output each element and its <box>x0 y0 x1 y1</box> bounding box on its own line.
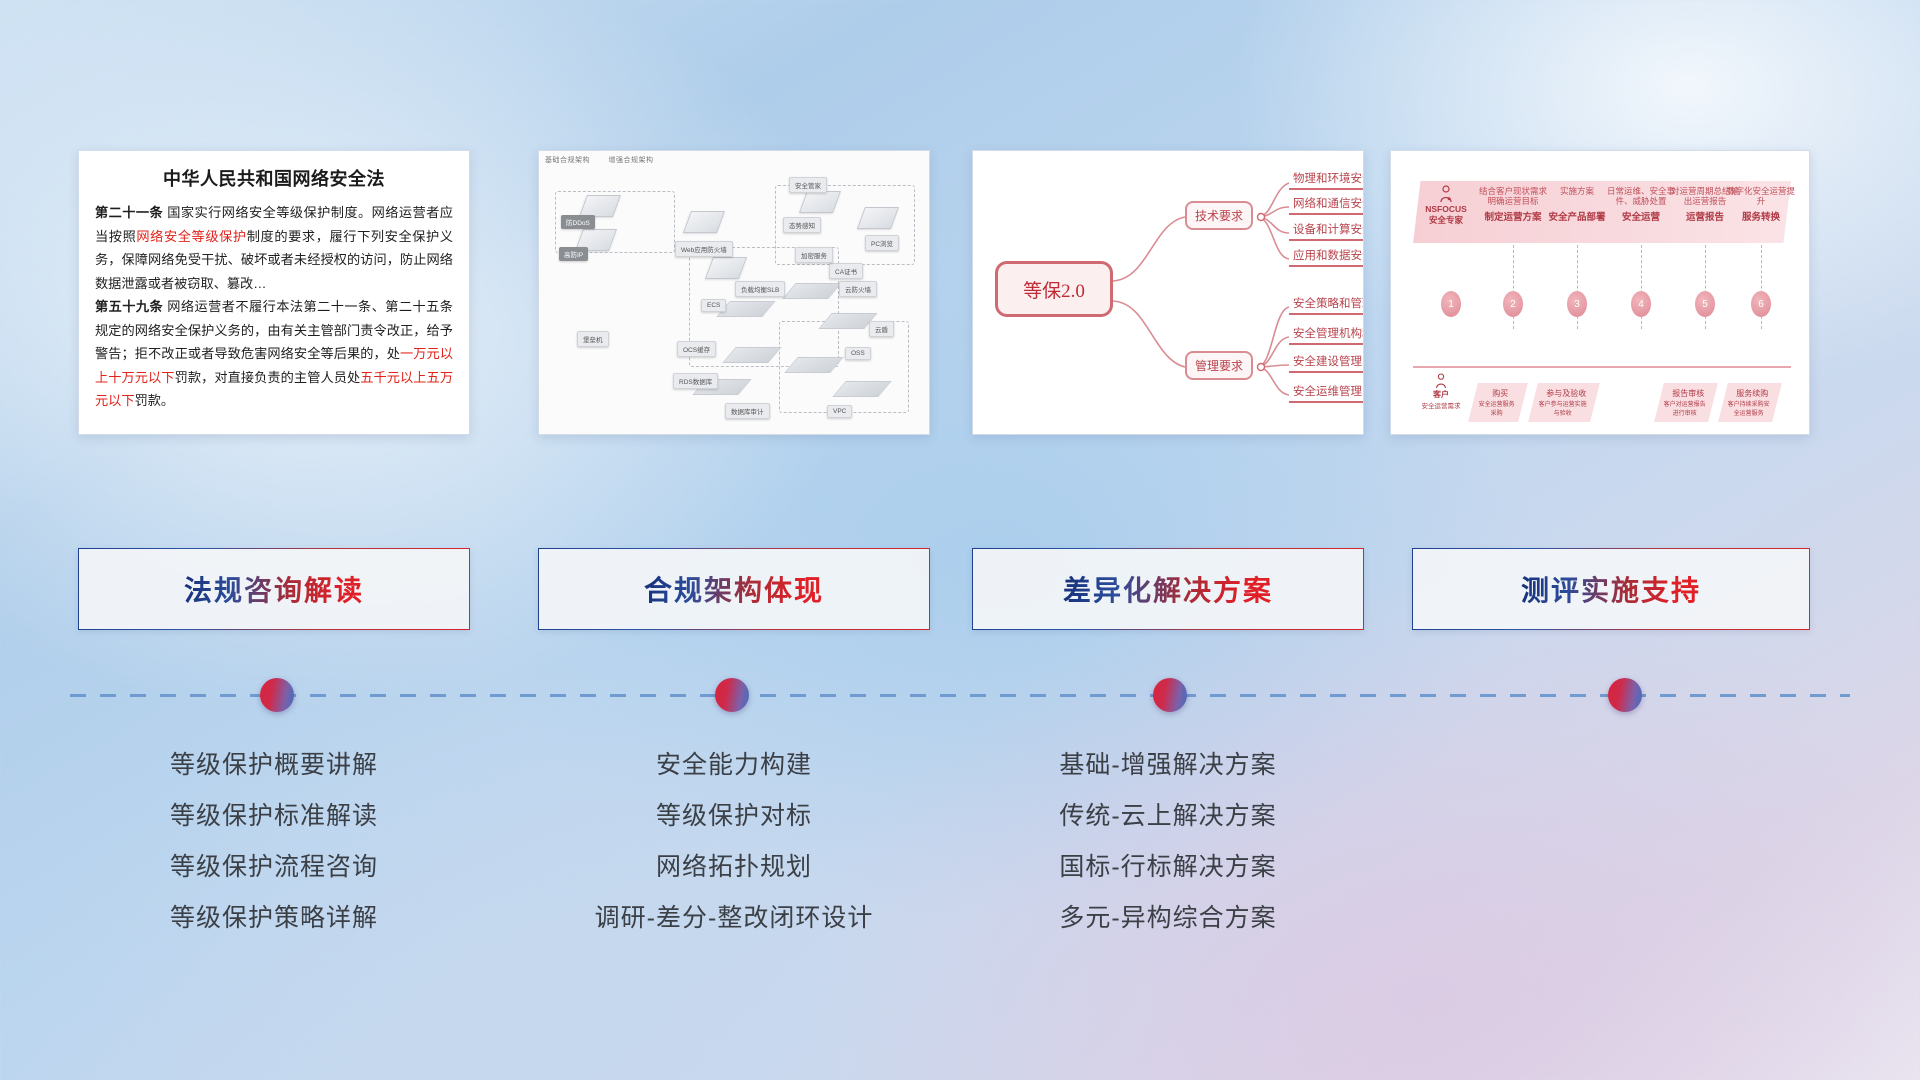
architecture-node-label: 态势感知 <box>783 217 821 233</box>
nsfocus-step-desc: 结合客户现状需求明确运营目标 <box>1477 187 1549 207</box>
law-article-59-text-b: 罚款，对直接负责的主管人员处 <box>175 370 361 385</box>
nsfocus-customer-action: 报告审核 客户对运营报告进行审核 <box>1654 383 1718 422</box>
customer-icon <box>1434 373 1448 389</box>
nsfocus-step-marker: 2 <box>1503 291 1523 317</box>
nsfocus-step-marker: 3 <box>1567 291 1587 317</box>
nsfocus-diagram: NSFOCUS 安全专家 结合客户现状需求明确运营目标 制定运营方案 实施方案 … <box>1391 151 1809 434</box>
architecture-node-label: 云防火墙 <box>839 281 877 297</box>
timeline-dot-4[interactable] <box>1608 678 1642 712</box>
architecture-node-label: 防DDoS <box>561 215 595 229</box>
nsfocus-customer-action-desc: 客户对运营报告进行审核 <box>1664 399 1706 417</box>
list-item: 等级保护标准解读 <box>78 791 470 842</box>
architecture-node-label: 堡垒机 <box>577 331 609 347</box>
detail-list-compliance-architecture: 安全能力构建 等级保护对标 网络拓扑规划 调研-差分-整改闭环设计 <box>538 740 930 944</box>
list-item: 多元-异构综合方案 <box>972 893 1364 944</box>
nsfocus-customer-label: 客户 <box>1433 390 1449 399</box>
mindmap-leaf: 物理和环境安全 <box>1289 169 1364 190</box>
nsfocus-customer-action-title: 服务续购 <box>1731 388 1773 399</box>
architecture-node-label: RDS数据库 <box>673 373 718 389</box>
mindmap-leaf: 安全运维管理 <box>1289 382 1364 403</box>
law-text-block: 中华人民共和国网络安全法 第二十一条 国家实行网络安全等级保护制度。网络运营者应… <box>79 151 469 423</box>
architecture-header-left: 基础合规架构 <box>545 157 590 164</box>
mindmap-leaf: 安全建设管理 <box>1289 352 1364 373</box>
law-article-59: 第五十九条 网络运营者不履行本法第二十一条、第二十五条规定的网络安全保护义务的，… <box>95 295 453 413</box>
headline-box-evaluation-support[interactable]: 测评实施支持 <box>1412 548 1810 630</box>
headline-label: 法规咨询解读 <box>184 569 364 609</box>
nsfocus-logo-line2: 安全专家 <box>1429 215 1463 225</box>
timeline-dot-2[interactable] <box>715 678 749 712</box>
mindmap-leaf: 设备和计算安全 <box>1289 220 1364 241</box>
mindmap: 等保2.0 技术要求 管理要求 物理和环境安全 网络和通信安全 设备和计算安全 … <box>973 151 1363 434</box>
nsfocus-customer-action-desc: 安全运营服务采购 <box>1478 399 1516 417</box>
list-item: 传统-云上解决方案 <box>972 791 1364 842</box>
architecture-node-label: VPC <box>827 405 852 418</box>
nsfocus-axis <box>1413 366 1791 368</box>
list-item: 调研-差分-整改闭环设计 <box>538 893 930 944</box>
architecture-node-label: 加密服务 <box>795 247 833 263</box>
nsfocus-customer-action-title: 报告审核 <box>1667 388 1709 399</box>
headline-label: 合规架构体现 <box>644 569 824 609</box>
cards-row: 中华人民共和国网络安全法 第二十一条 国家实行网络安全等级保护制度。网络运营者应… <box>0 150 1920 440</box>
nsfocus-step-marker: 4 <box>1631 291 1651 317</box>
nsfocus-step-marker: 5 <box>1695 291 1715 317</box>
list-item: 基础-增强解决方案 <box>972 740 1364 791</box>
nsfocus-customer-action-title: 参与及验收 <box>1541 388 1591 399</box>
law-title: 中华人民共和国网络安全法 <box>95 165 453 191</box>
architecture-node-label: 高防IP <box>559 247 588 261</box>
card-nsfocus-timeline[interactable]: NSFOCUS 安全专家 结合客户现状需求明确运营目标 制定运营方案 实施方案 … <box>1390 150 1810 435</box>
mindmap-branch-technical: 技术要求 <box>1185 201 1253 230</box>
timeline-dashed-line <box>70 694 1850 697</box>
nsfocus-customer-action-desc: 客户参与运营实施与验收 <box>1538 399 1588 417</box>
timeline-dot-1[interactable] <box>260 678 294 712</box>
mindmap-leaf: 应用和数据安全 <box>1289 246 1364 267</box>
headline-label: 差异化解决方案 <box>1063 569 1273 609</box>
headline-box-differentiated-solution[interactable]: 差异化解决方案 <box>972 548 1364 630</box>
architecture-header: 基础合规架构 增强合规架构 <box>545 155 669 165</box>
architecture-diagram: 基础合规架构 增强合规架构 防DDoS 高防IP 安全管家 态势感知 <box>539 151 929 434</box>
mindmap-leaf: 网络和通信安全 <box>1289 194 1364 215</box>
timeline <box>70 694 1850 698</box>
headline-box-compliance-architecture[interactable]: 合规架构体现 <box>538 548 930 630</box>
architecture-header-right: 增强合规架构 <box>608 157 653 164</box>
law-article-59-label: 第五十九条 <box>95 299 163 314</box>
headline-row: 法规咨询解读 合规架构体现 差异化解决方案 测评实施支持 <box>0 548 1920 630</box>
detail-list-differentiated-solution: 基础-增强解决方案 传统-云上解决方案 国标-行标解决方案 多元-异构综合方案 <box>972 740 1364 944</box>
list-item: 安全能力构建 <box>538 740 930 791</box>
architecture-node-label: OSS <box>845 347 871 360</box>
nsfocus-step-marker: 1 <box>1441 291 1461 317</box>
law-article-21-label: 第二十一条 <box>95 205 163 220</box>
nsfocus-customer-action-title: 购买 <box>1481 388 1519 399</box>
list-item: 等级保护策略详解 <box>78 893 470 944</box>
architecture-node-label: 负载均衡SLB <box>735 281 785 297</box>
list-item: 国标-行标解决方案 <box>972 842 1364 893</box>
nsfocus-customer-desc: 安全运营需求 <box>1422 403 1461 410</box>
architecture-node-label: 安全管家 <box>789 177 827 193</box>
card-mindmap-dengbao[interactable]: 等保2.0 技术要求 管理要求 物理和环境安全 网络和通信安全 设备和计算安全 … <box>972 150 1364 435</box>
nsfocus-step-desc: 日常运维、安全事件、威胁处置 <box>1605 187 1677 207</box>
headline-box-regulation-consulting[interactable]: 法规咨询解读 <box>78 548 470 630</box>
architecture-node-shape <box>683 211 725 233</box>
nsfocus-customer: 客户 安全运营需求 <box>1413 373 1469 410</box>
architecture-node-label: 云盾 <box>869 321 894 337</box>
law-article-59-text-c: 罚款。 <box>135 393 175 408</box>
list-item: 网络拓扑规划 <box>538 842 930 893</box>
nsfocus-step-title: 服务转换 <box>1725 209 1797 223</box>
mindmap-branch-management: 管理要求 <box>1185 351 1253 380</box>
nsfocus-logo-line1: NSFOCUS <box>1425 204 1467 214</box>
nsfocus-step-title: 制定运营方案 <box>1477 209 1549 223</box>
architecture-node-label: CA证书 <box>829 263 863 279</box>
security-expert-icon <box>1438 185 1454 203</box>
law-article-21-highlight: 网络安全等级保护 <box>136 229 246 244</box>
nsfocus-step-marker: 6 <box>1751 291 1771 317</box>
architecture-node-label: PC浏览 <box>865 235 899 251</box>
architecture-node-label: 数据库审计 <box>725 403 770 419</box>
card-cloud-architecture[interactable]: 基础合规架构 增强合规架构 防DDoS 高防IP 安全管家 态势感知 <box>538 150 930 435</box>
detail-list-regulation-consulting: 等级保护概要讲解 等级保护标准解读 等级保护流程咨询 等级保护策略详解 <box>78 740 470 944</box>
nsfocus-customer-action: 服务续购 客户持续采购安全运营服务 <box>1718 383 1782 422</box>
mindmap-root-node: 等保2.0 <box>995 261 1113 317</box>
nsfocus-step-title: 安全运营 <box>1605 209 1677 223</box>
list-item: 等级保护对标 <box>538 791 930 842</box>
architecture-node-label: OCS缓存 <box>677 341 716 357</box>
nsfocus-step-desc: 数字化安全运营提升 <box>1725 187 1797 207</box>
headline-label: 测评实施支持 <box>1521 569 1701 609</box>
card-cybersecurity-law[interactable]: 中华人民共和国网络安全法 第二十一条 国家实行网络安全等级保护制度。网络运营者应… <box>78 150 470 435</box>
law-article-21: 第二十一条 国家实行网络安全等级保护制度。网络运营者应当按照网络安全等级保护制度… <box>95 201 453 295</box>
nsfocus-customer-action: 购买 安全运营服务采购 <box>1468 383 1528 422</box>
nsfocus-step-desc: 实施方案 <box>1541 187 1613 197</box>
mindmap-leaf: 安全管理机构和人员 <box>1289 324 1364 345</box>
nsfocus-customer-action: 参与及验收 客户参与运营实施与验收 <box>1528 383 1600 422</box>
list-item: 等级保护流程咨询 <box>78 842 470 893</box>
timeline-dot-3[interactable] <box>1153 678 1187 712</box>
mindmap-leaf: 安全策略和管理制度 <box>1289 294 1364 315</box>
nsfocus-step-title: 安全产品部署 <box>1541 209 1613 223</box>
architecture-node-label: ECS <box>701 299 726 312</box>
nsfocus-customer-action-desc: 客户持续采购安全运营服务 <box>1728 399 1770 417</box>
list-item: 等级保护概要讲解 <box>78 740 470 791</box>
nsfocus-logo: NSFOCUS 安全专家 <box>1419 185 1473 225</box>
architecture-node-label: Web应用防火墙 <box>675 241 733 257</box>
